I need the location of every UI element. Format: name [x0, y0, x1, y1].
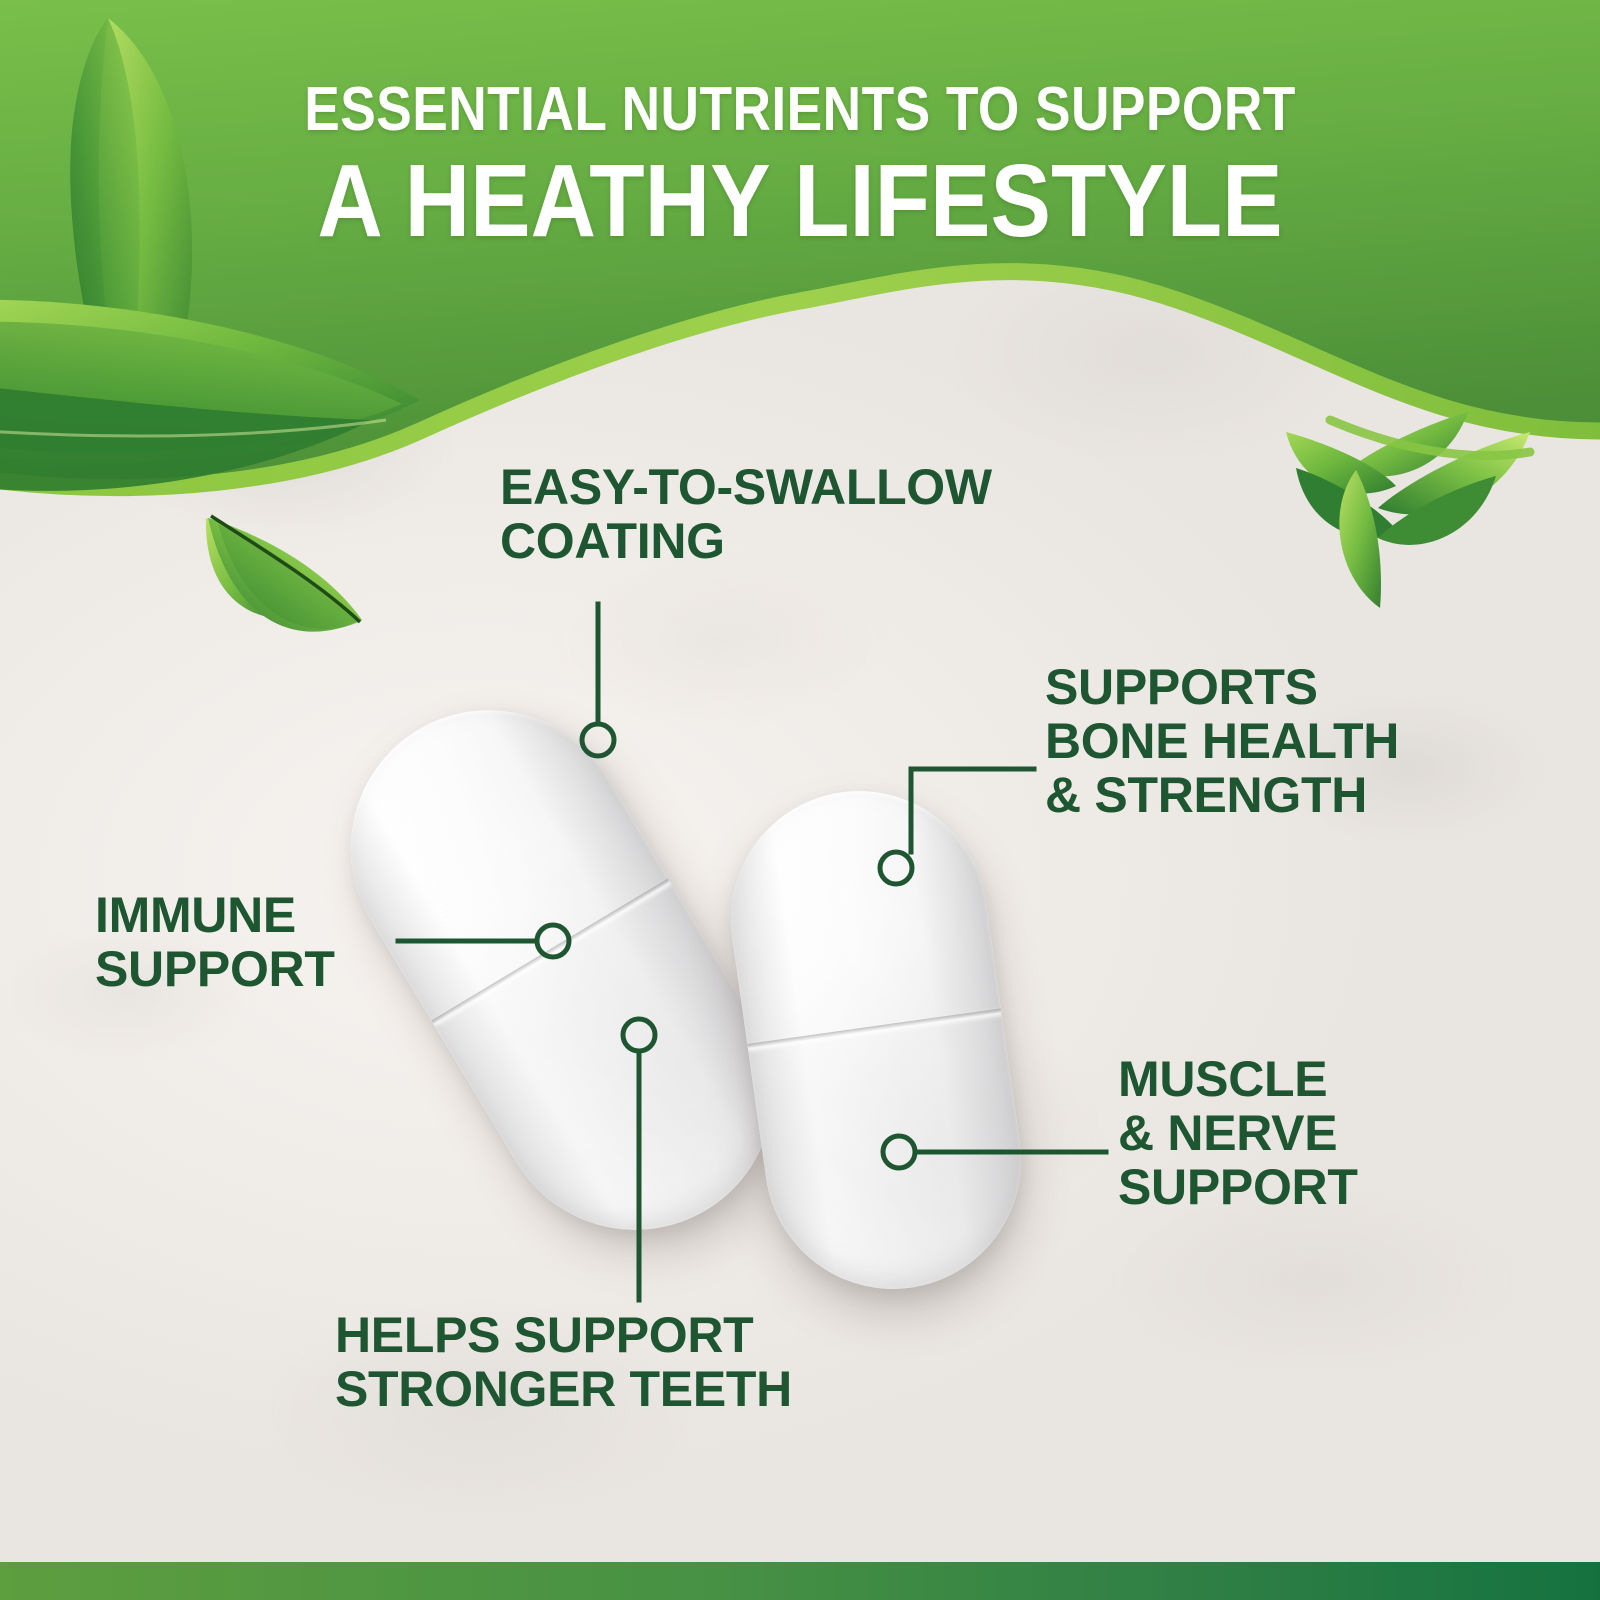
headline-line-1: ESSENTIAL NUTRIENTS TO SUPPORT — [112, 78, 1488, 142]
callout-label-teeth: HELPS SUPPORT STRONGER TEETH — [335, 1308, 975, 1416]
callout-label-coating: EASY-TO-SWALLOW COATING — [500, 460, 1120, 568]
connector-bone — [911, 769, 1034, 852]
marker-dot-immune — [537, 925, 569, 957]
callout-label-muscle: MUSCLE & NERVE SUPPORT — [1118, 1052, 1538, 1214]
callout-label-immune: IMMUNE SUPPORT — [95, 888, 515, 996]
marker-dot-bone — [880, 852, 912, 884]
bottom-accent-bar — [0, 1562, 1600, 1600]
marker-dot-muscle — [883, 1136, 915, 1168]
callout-label-bone: SUPPORTS BONE HEALTH & STRENGTH — [1045, 660, 1585, 822]
infographic-canvas: ESSENTIAL NUTRIENTS TO SUPPORT A HEATHY … — [0, 0, 1600, 1600]
headline-line-2: A HEATHY LIFESTYLE — [96, 148, 1504, 253]
marker-dot-coating — [582, 724, 614, 756]
page-title: ESSENTIAL NUTRIENTS TO SUPPORT A HEATHY … — [0, 78, 1600, 254]
marker-dot-teeth — [623, 1019, 655, 1051]
